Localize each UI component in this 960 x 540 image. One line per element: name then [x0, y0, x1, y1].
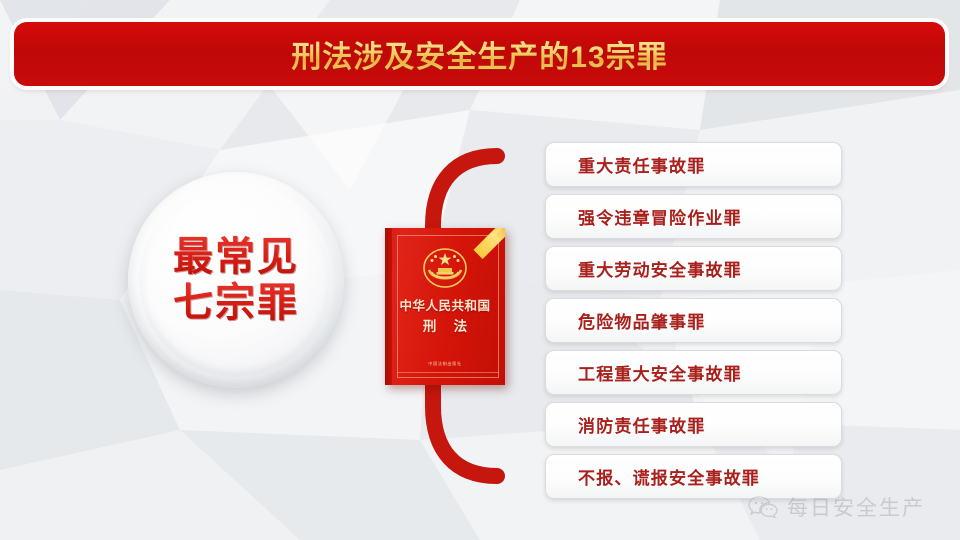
list-item[interactable]: 重大劳动安全事故罪 — [545, 246, 842, 291]
book-corner-ribbon: 实用版 — [471, 228, 505, 262]
list-item[interactable]: 重大责任事故罪 — [545, 142, 842, 187]
crime-label: 不报、谎报安全事故罪 — [546, 464, 760, 489]
crime-label: 强令违章冒险作业罪 — [546, 204, 742, 229]
crime-label: 危险物品肇事罪 — [546, 308, 705, 333]
page-title: 刑法涉及安全生产的13宗罪 — [291, 32, 667, 76]
list-item[interactable]: 消防责任事故罪 — [545, 402, 842, 447]
book-publisher: 中国法制出版社 — [385, 361, 505, 367]
watermark: 每日安全生产 — [748, 492, 925, 522]
book-title-block: 中华人民共和国 刑 法 — [385, 300, 505, 334]
criminal-law-book: 实用版 中华人民共和国 刑 法 中国法制出版社 — [385, 228, 505, 385]
book-title-line-2: 刑 法 — [385, 320, 505, 334]
list-item[interactable]: 危险物品肇事罪 — [545, 298, 842, 343]
watermark-label: 每日安全生产 — [787, 492, 925, 522]
crime-label: 重大劳动安全事故罪 — [546, 256, 742, 281]
crime-label: 消防责任事故罪 — [546, 412, 705, 437]
badge-line-1: 最常见 — [173, 234, 299, 280]
book-corner-tag-label: 实用版 — [491, 228, 504, 238]
book-title-line-1: 中华人民共和国 — [399, 299, 490, 313]
badge-circle: 最常见 七宗罪 — [128, 172, 344, 388]
list-item[interactable]: 工程重大安全事故罪 — [545, 350, 842, 395]
wechat-icon — [748, 495, 778, 519]
crime-label: 重大责任事故罪 — [546, 152, 705, 177]
slide-root: 刑法涉及安全生产的13宗罪 最常见 七宗罪 实用版 — [0, 0, 960, 540]
slide-title-bar: 刑法涉及安全生产的13宗罪 — [14, 22, 945, 86]
list-item[interactable]: 强令违章冒险作业罪 — [545, 194, 842, 239]
national-emblem — [423, 248, 467, 288]
crime-list: 重大责任事故罪 强令违章冒险作业罪 重大劳动安全事故罪 危险物品肇事罪 工程重大… — [545, 142, 842, 506]
book-bottom-rule — [397, 372, 499, 373]
badge-line-2: 七宗罪 — [173, 280, 299, 326]
badge-circle-inner: 最常见 七宗罪 — [139, 183, 333, 377]
crime-label: 工程重大安全事故罪 — [546, 360, 742, 385]
